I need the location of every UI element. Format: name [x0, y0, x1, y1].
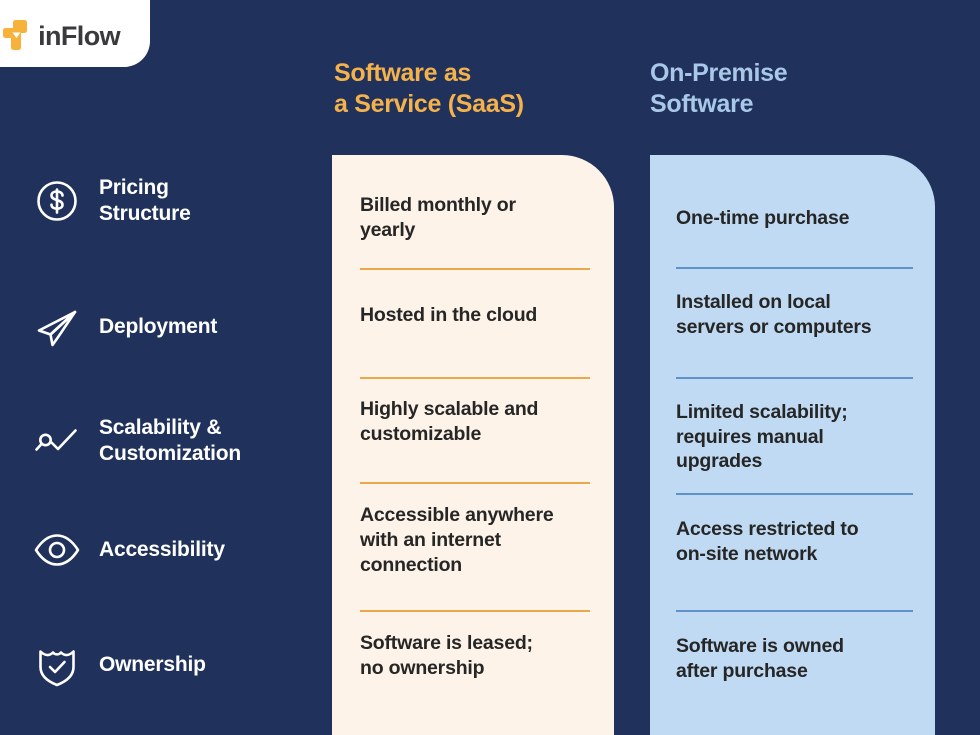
label-text: Accessibility [99, 537, 225, 563]
label-row-scalability-customization: Scalability & Customization [32, 415, 332, 467]
cell-saas-deployment: Hosted in the cloud [360, 273, 590, 358]
row-divider [360, 482, 590, 484]
label-row-deployment: Deployment [32, 302, 332, 352]
paper-plane-icon [32, 302, 82, 352]
comparison-column-saas: Billed monthly or yearly Hosted in the c… [332, 155, 614, 735]
label-text: Pricing Structure [99, 175, 191, 227]
label-row-ownership: Ownership [32, 640, 332, 690]
cell-text: Access restricted to on-site network [676, 517, 858, 567]
cell-text: Installed on local servers or computers [676, 290, 871, 340]
label-row-pricing-structure: Pricing Structure [32, 175, 332, 227]
row-divider [676, 610, 913, 612]
cell-text: Highly scalable and customizable [360, 397, 538, 447]
cell-saas-pricing-structure: Billed monthly or yearly [360, 178, 590, 258]
cell-saas-accessibility: Accessible anywhere with an internet con… [360, 488, 590, 593]
shield-check-icon [32, 640, 82, 690]
cell-text: Software is owned after purchase [676, 634, 844, 684]
cell-saas-ownership: Software is leased; no ownership [360, 616, 590, 696]
cell-onpremise-deployment: Installed on local servers or computers [676, 277, 913, 353]
cell-text: Hosted in the cloud [360, 303, 537, 328]
column-header-saas: Software as a Service (SaaS) [334, 58, 604, 119]
brand-logo-text: inFlow [38, 23, 120, 50]
label-text: Scalability & Customization [99, 415, 241, 467]
comparison-column-onpremise: One-time purchase Installed on local ser… [650, 155, 935, 735]
cell-text: Billed monthly or yearly [360, 193, 516, 243]
row-divider [676, 377, 913, 379]
cell-onpremise-accessibility: Access restricted to on-site network [676, 503, 913, 581]
label-text: Ownership [99, 652, 206, 678]
brand-logo: inFlow [2, 19, 120, 53]
cell-text: Software is leased; no ownership [360, 631, 533, 681]
dollar-circle-icon [32, 176, 82, 226]
cell-text: Accessible anywhere with an internet con… [360, 503, 553, 577]
label-row-accessibility: Accessibility [32, 525, 332, 575]
brand-logo-badge: inFlow [0, 0, 150, 67]
row-divider [360, 268, 590, 270]
column-header-onpremise: On-Premise Software [650, 58, 930, 119]
cell-saas-scalability-customization: Highly scalable and customizable [360, 383, 590, 461]
row-divider [676, 493, 913, 495]
inflow-logo-icon [2, 19, 36, 53]
label-text: Deployment [99, 314, 217, 340]
growth-chart-icon [32, 416, 82, 466]
attribute-label-column: Pricing Structure Deployment Scalability… [0, 155, 332, 735]
cell-onpremise-pricing-structure: One-time purchase [676, 189, 913, 247]
cell-onpremise-scalability-customization: Limited scalability; requires manual upg… [676, 387, 913, 487]
row-divider [360, 610, 590, 612]
row-divider [676, 267, 913, 269]
infographic-canvas: inFlow Software as a Service (SaaS) On-P… [0, 0, 980, 735]
row-divider [360, 377, 590, 379]
eye-icon [32, 525, 82, 575]
cell-text: One-time purchase [676, 206, 849, 231]
cell-text: Limited scalability; requires manual upg… [676, 400, 848, 474]
cell-onpremise-ownership: Software is owned after purchase [676, 620, 913, 698]
